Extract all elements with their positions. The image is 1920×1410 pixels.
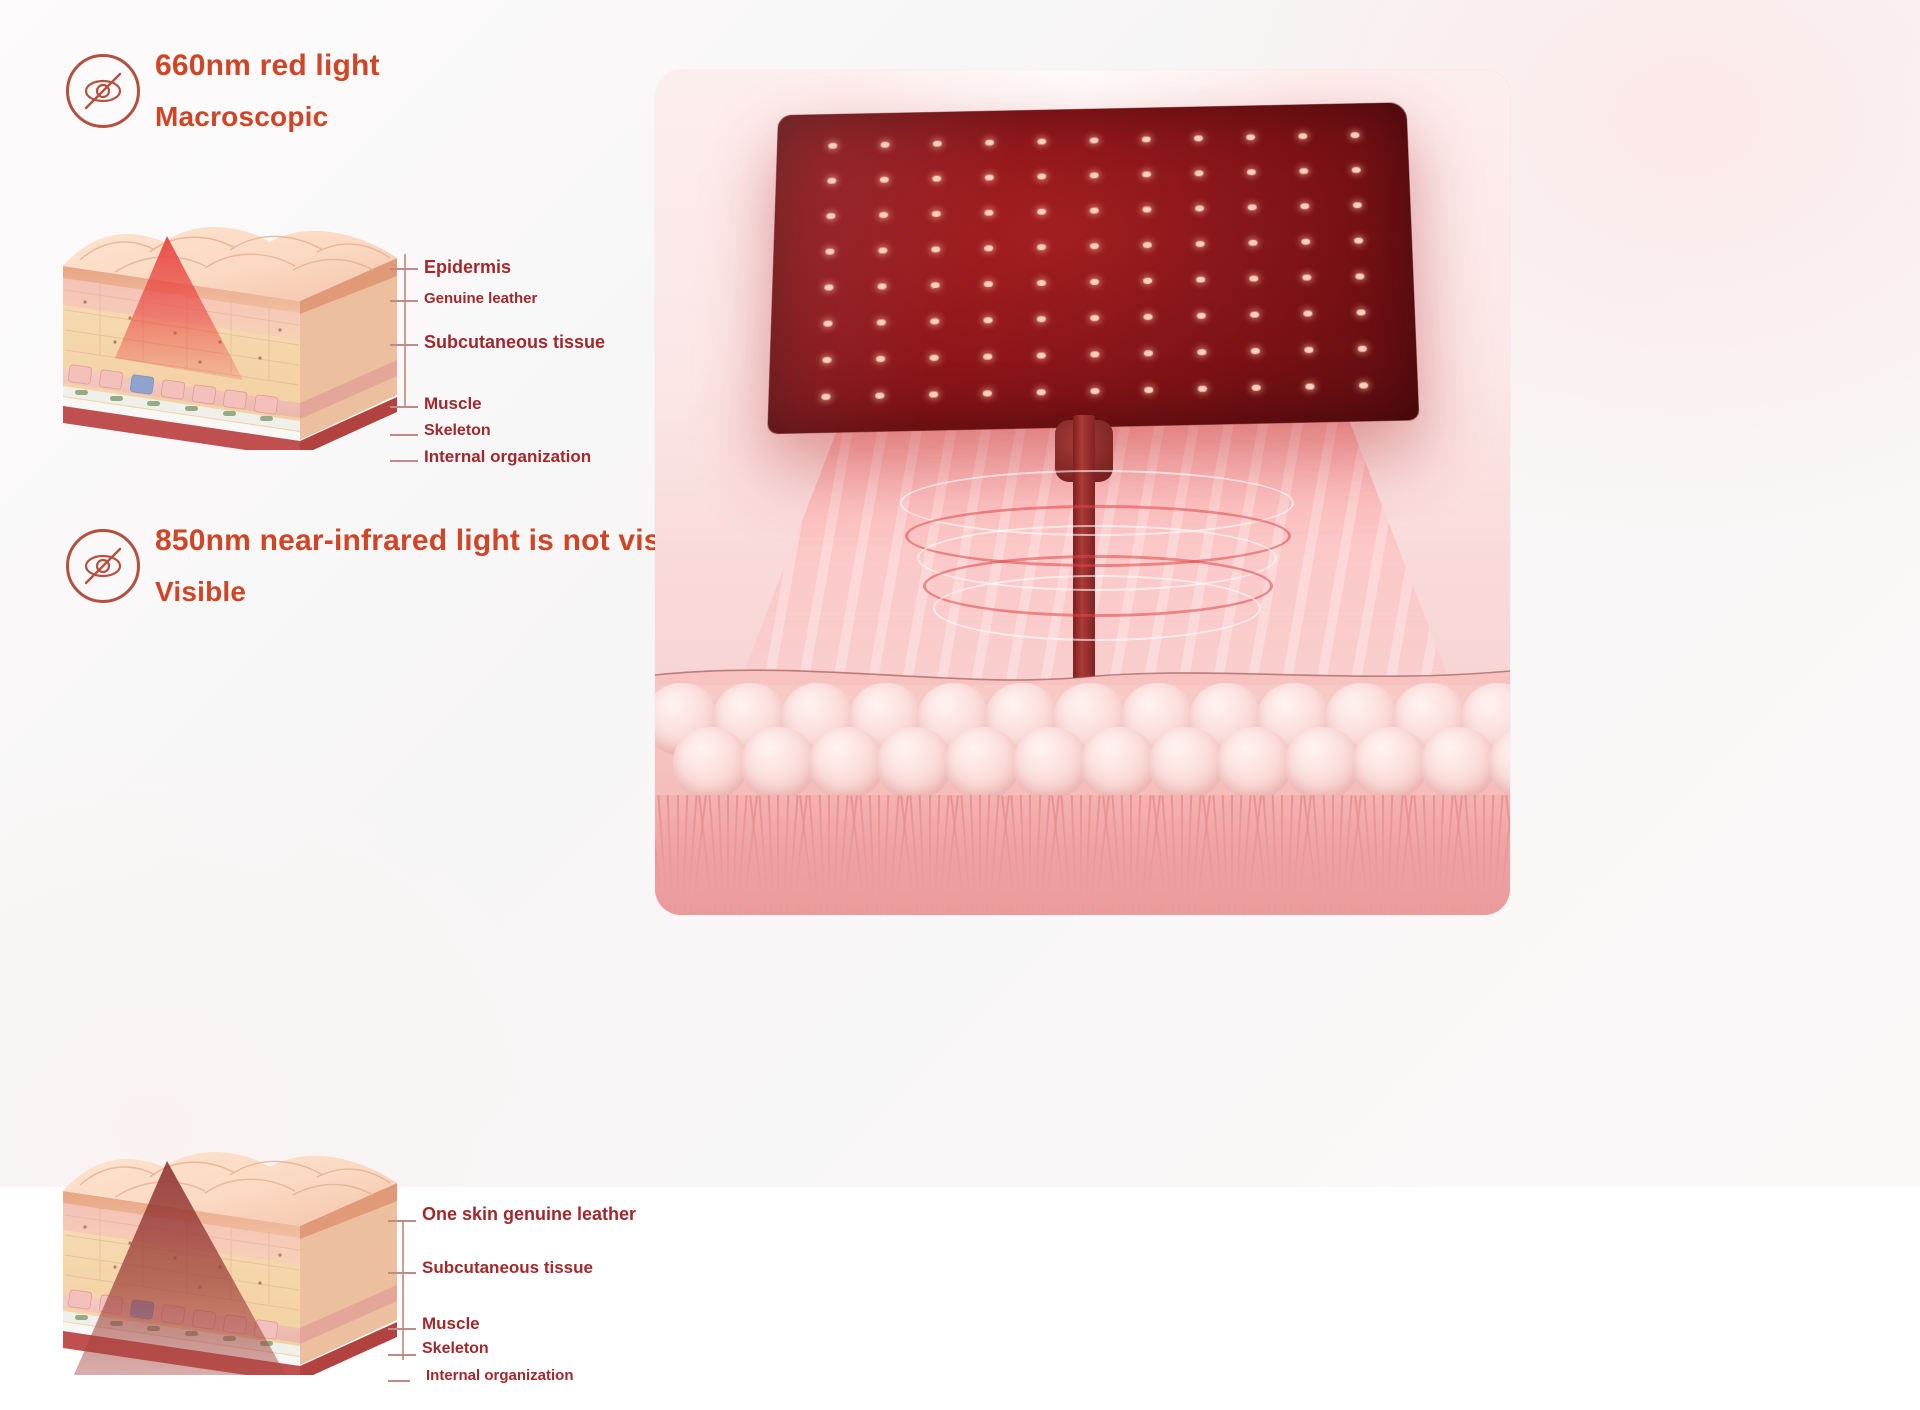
collagen-fiber xyxy=(1483,795,1485,915)
collagen-fiber xyxy=(1455,795,1471,914)
fat-cell xyxy=(945,727,1019,799)
led-dot xyxy=(1196,277,1205,283)
led-dot xyxy=(1250,312,1259,318)
collagen-fiber xyxy=(1241,795,1252,915)
collagen-fiber xyxy=(737,795,748,915)
led-dot xyxy=(1299,168,1308,174)
led-dot xyxy=(930,355,939,361)
led-dot xyxy=(825,249,834,255)
collagen-fiber xyxy=(828,795,830,915)
led-dot xyxy=(1354,238,1363,244)
collagen-fiber xyxy=(1373,795,1380,915)
led-dot xyxy=(1246,134,1255,140)
led-dot xyxy=(1090,172,1099,178)
collagen-fiber xyxy=(969,795,976,915)
led-dot xyxy=(1305,383,1314,389)
led-dot xyxy=(1194,135,1203,141)
collagen-fiber xyxy=(1281,795,1283,915)
led-dot xyxy=(879,212,888,218)
led-dot xyxy=(1350,132,1359,138)
led-dot xyxy=(1355,273,1364,279)
led-dot xyxy=(932,211,941,217)
fat-cell xyxy=(1149,727,1223,799)
led-dot xyxy=(1247,169,1256,175)
collagen-fiber xyxy=(929,795,931,915)
led-dot xyxy=(1302,274,1311,280)
led-dot xyxy=(1198,386,1207,392)
skin-cross-section-850nm xyxy=(55,1115,405,1375)
collagen-fiber xyxy=(989,795,1000,915)
led-dot xyxy=(1090,137,1099,143)
collagen-fiber xyxy=(1135,795,1142,915)
led-dot xyxy=(1037,139,1046,145)
fat-cell xyxy=(1081,727,1155,799)
collagen-fiber xyxy=(1442,795,1453,915)
collagen-fiber xyxy=(699,795,715,914)
label-genuine-leather: Genuine leather xyxy=(424,290,537,307)
led-dot xyxy=(930,318,939,324)
led-dot-grid xyxy=(767,102,1419,434)
collagen-fiber xyxy=(919,795,926,915)
collagen-fiber xyxy=(888,795,899,915)
led-dot xyxy=(931,246,940,252)
fat-cell xyxy=(1353,727,1427,799)
led-dot xyxy=(1197,313,1206,319)
collagen-fiber xyxy=(677,795,679,915)
led-dot xyxy=(1143,242,1152,248)
section-660nm-heading-text: 660nm red light Macroscopic xyxy=(155,40,380,142)
collagen-fiber xyxy=(1231,795,1233,915)
fat-cell xyxy=(809,727,883,799)
led-dot xyxy=(1248,204,1257,210)
collagen-fiber xyxy=(1493,795,1504,915)
section-660nm-heading-line2: Macroscopic xyxy=(155,92,380,142)
collagen-fiber xyxy=(727,795,729,915)
collagen-fiber xyxy=(1332,795,1334,915)
collagen-fiber xyxy=(1190,795,1201,915)
led-dot xyxy=(880,177,889,183)
skin-cross-section-660nm xyxy=(55,190,405,450)
led-dot xyxy=(1352,167,1361,173)
label-muscle: Muscle xyxy=(424,394,482,414)
led-dot xyxy=(1359,382,1368,388)
collagen-fiber xyxy=(1272,795,1279,915)
led-dot xyxy=(1037,389,1046,395)
label-skeleton: Skeleton xyxy=(424,422,491,440)
collagen-fiber xyxy=(667,795,674,915)
led-dot xyxy=(876,356,885,362)
collagen-fiber xyxy=(787,795,798,915)
label-skeleton: Skeleton xyxy=(422,1340,489,1358)
collagen-fiber xyxy=(1203,795,1219,914)
led-dot xyxy=(1251,348,1260,354)
infographic-canvas: 660nm red light Macroscopic xyxy=(0,0,1920,1187)
led-dot xyxy=(983,390,992,396)
led-dot xyxy=(878,283,887,289)
collagen-fiber xyxy=(1221,795,1228,915)
led-dot xyxy=(1298,133,1307,139)
collagen-fiber xyxy=(1322,795,1329,915)
label-one-skin-genuine-leather: One skin genuine leather xyxy=(422,1204,636,1225)
collagen-fiber xyxy=(979,795,981,915)
eye-off-icon xyxy=(66,54,140,128)
led-dot xyxy=(877,319,886,325)
label-group-850nm: One skin genuine leather Subcutaneous ti… xyxy=(388,1180,818,1410)
collagen-fiber xyxy=(1130,795,1132,915)
collagen-fiber xyxy=(818,795,825,915)
label-subcutaneous-tissue: Subcutaneous tissue xyxy=(422,1258,593,1278)
led-dot xyxy=(821,394,830,400)
fat-cell xyxy=(673,727,747,799)
led-dot xyxy=(826,213,835,219)
led-dot xyxy=(1143,278,1152,284)
led-dot xyxy=(1144,350,1153,356)
collagen-fiber xyxy=(883,795,890,915)
led-dot xyxy=(822,357,831,363)
led-dot xyxy=(1090,351,1099,357)
led-dot xyxy=(1300,203,1309,209)
collagen-fiber xyxy=(1433,795,1435,915)
led-dot xyxy=(1252,385,1261,391)
led-dot xyxy=(1090,315,1099,321)
collagen-fiber xyxy=(1382,795,1384,915)
led-dot xyxy=(1303,310,1312,316)
led-dot xyxy=(1143,314,1152,320)
label-subcutaneous-tissue: Subcutaneous tissue xyxy=(424,332,605,353)
led-dot xyxy=(932,176,941,182)
fat-cell xyxy=(1421,727,1495,799)
collagen-fiber-zone xyxy=(655,795,1510,915)
led-dot xyxy=(1090,279,1099,285)
led-dot xyxy=(984,281,993,287)
collagen-fiber xyxy=(1080,795,1082,915)
collagen-fiber xyxy=(951,795,967,914)
fat-cell xyxy=(1013,727,1087,799)
collagen-fiber xyxy=(1070,795,1077,915)
collagen-fiber xyxy=(777,795,779,915)
led-dot xyxy=(1037,316,1046,322)
collagen-fiber xyxy=(1473,795,1480,915)
fat-cell-cluster xyxy=(655,683,1510,803)
collagen-fiber xyxy=(1029,795,1031,915)
led-dot xyxy=(1353,202,1362,208)
led-dot xyxy=(824,284,833,290)
led-dot xyxy=(1037,352,1046,358)
led-dot xyxy=(823,320,832,326)
label-internal-organization: Internal organization xyxy=(426,1367,574,1384)
eye-off-icon xyxy=(66,529,140,603)
label-epidermis: Epidermis xyxy=(424,257,511,278)
led-dot xyxy=(1090,243,1099,249)
led-dot xyxy=(1248,240,1257,246)
led-dot xyxy=(983,317,992,323)
led-dot xyxy=(1195,205,1204,211)
led-dot xyxy=(828,143,837,149)
collagen-fiber xyxy=(1039,795,1050,915)
led-dot xyxy=(985,140,994,146)
led-panel-device xyxy=(767,102,1419,434)
led-dot xyxy=(1090,388,1099,394)
collagen-fiber xyxy=(1291,795,1302,915)
tissue-cross-section xyxy=(655,655,1510,915)
led-dot xyxy=(933,141,942,147)
led-dot xyxy=(881,142,890,148)
collagen-fiber xyxy=(768,795,775,915)
glass-disc-inner xyxy=(933,575,1261,641)
collagen-fiber xyxy=(878,795,880,915)
led-dot xyxy=(1304,347,1313,353)
led-dot xyxy=(1196,241,1205,247)
label-internal-organization: Internal organization xyxy=(424,447,591,467)
led-dot xyxy=(1037,280,1046,286)
fat-cell xyxy=(1217,727,1291,799)
led-dot xyxy=(1142,206,1151,212)
led-dot xyxy=(1144,387,1153,393)
led-dot xyxy=(929,391,938,397)
fat-cell xyxy=(877,727,951,799)
collagen-fiber xyxy=(869,795,876,915)
led-dot xyxy=(984,245,993,251)
collagen-fiber xyxy=(1020,795,1027,915)
collagen-fiber xyxy=(1387,795,1394,915)
collagen-fiber xyxy=(1121,795,1128,915)
led-dot xyxy=(931,282,940,288)
fat-cell xyxy=(1285,727,1359,799)
led-dot xyxy=(1195,170,1204,176)
collagen-fiber xyxy=(1392,795,1403,915)
led-dot xyxy=(984,210,993,216)
led-dot xyxy=(1197,349,1206,355)
led-dot xyxy=(1301,239,1310,245)
led-dot xyxy=(875,393,884,399)
collagen-fiber xyxy=(686,795,697,915)
fat-cell xyxy=(741,727,815,799)
led-dot xyxy=(1037,244,1046,250)
led-dot xyxy=(985,175,994,181)
led-dot xyxy=(1037,173,1046,179)
led-dot xyxy=(1037,209,1046,215)
collagen-fiber xyxy=(1140,795,1151,915)
led-dot xyxy=(878,247,887,253)
label-muscle: Muscle xyxy=(422,1314,480,1334)
collagen-fiber xyxy=(1423,795,1430,915)
led-dot xyxy=(1142,171,1151,177)
led-dot xyxy=(1090,208,1099,214)
led-dot xyxy=(1142,136,1151,142)
led-dot xyxy=(983,354,992,360)
collagen-fiber xyxy=(1171,795,1178,915)
led-dot xyxy=(1358,346,1367,352)
collagen-fiber xyxy=(938,795,949,915)
collagen-fiber xyxy=(717,795,724,915)
red-light-therapy-photo xyxy=(655,70,1510,915)
led-dot xyxy=(827,178,836,184)
collagen-fiber xyxy=(1181,795,1183,915)
led-dot xyxy=(1249,276,1258,282)
led-dot xyxy=(1356,309,1365,315)
section-660nm-heading-line1: 660nm red light xyxy=(155,40,380,92)
